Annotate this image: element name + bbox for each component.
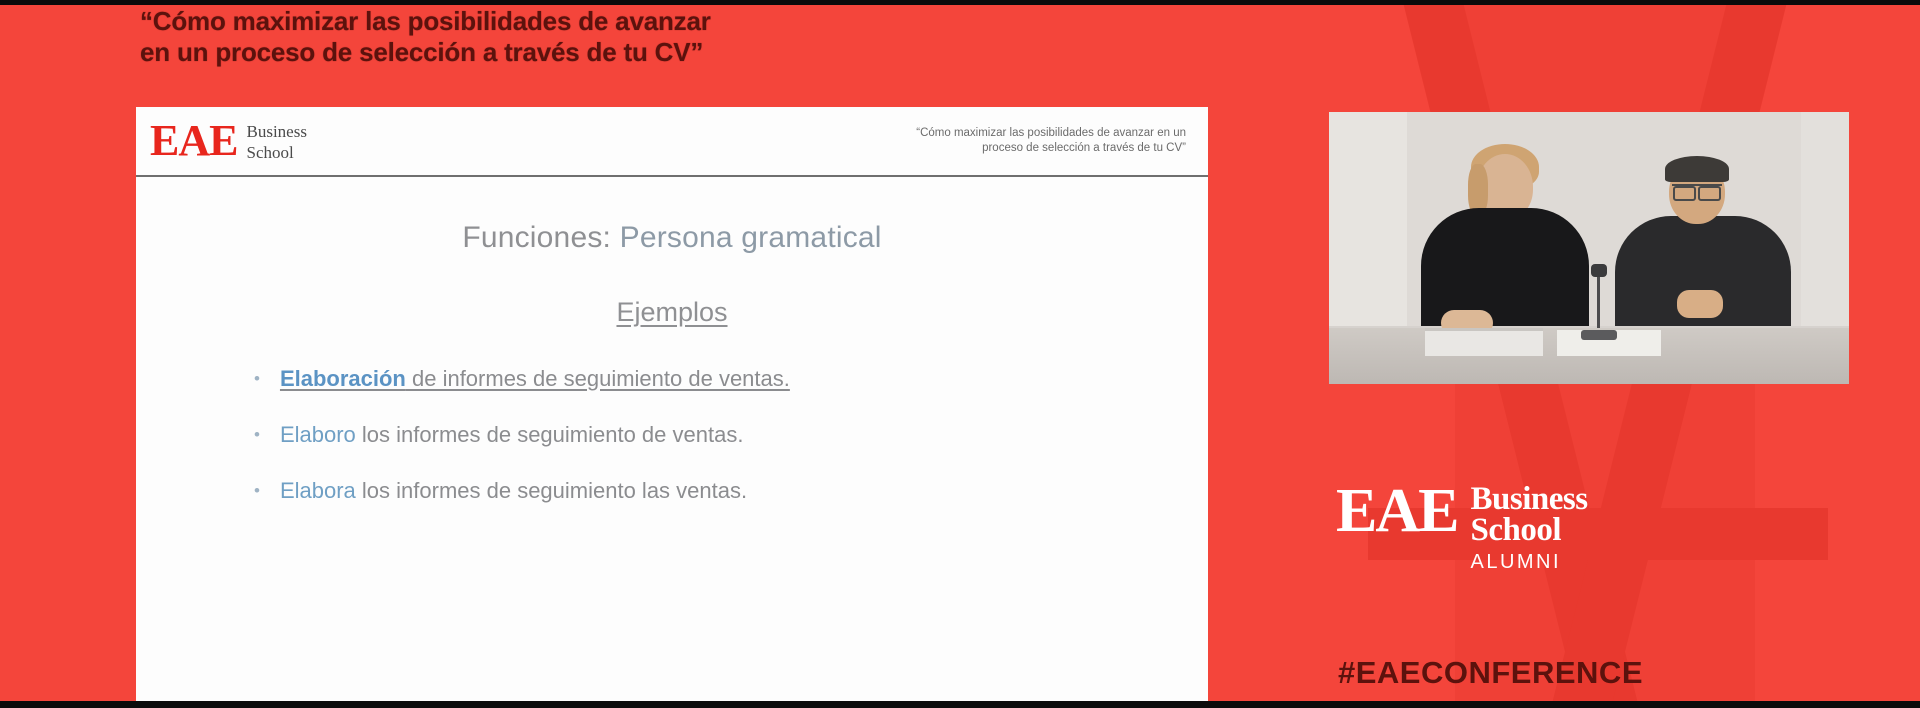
microphone-icon: [1591, 264, 1607, 277]
speaker-two-body: [1615, 216, 1791, 340]
list-item-keyword: Elabora: [280, 478, 356, 503]
eae-logo-line-1: Business: [246, 120, 306, 141]
slide-header-note-line-1: “Cómo maximizar las posibilidades de ava…: [916, 126, 1186, 141]
eae-alumni-words: Business School ALUMNI: [1470, 483, 1587, 574]
list-item-text: Elabora los informes de seguimiento las …: [280, 478, 747, 504]
video-laptop-left: [1425, 328, 1543, 356]
slide-subtitle: Ejemplos: [136, 297, 1208, 328]
eae-alumni-logo: EAE Business School ALUMNI: [1336, 483, 1588, 574]
list-item: • Elaboración de informes de seguimiento…: [254, 366, 1208, 392]
slide-header: EAE Business School “Cómo maximizar las …: [136, 107, 1208, 177]
list-item-keyword: Elaboración: [280, 366, 406, 391]
slide-header-note: “Cómo maximizar las posibilidades de ava…: [916, 126, 1186, 156]
list-item: • Elabora los informes de seguimiento la…: [254, 478, 1208, 504]
list-item-keyword: Elaboro: [280, 422, 356, 447]
conference-stream-frame: “Cómo maximizar las posibilidades de ava…: [0, 0, 1920, 708]
microphone-base: [1581, 330, 1617, 340]
eae-alumni-mark: EAE: [1336, 483, 1457, 539]
presentation-slide[interactable]: EAE Business School “Cómo maximizar las …: [136, 107, 1208, 701]
list-item-rest: los informes de seguimiento las ventas.: [356, 478, 747, 503]
conference-hashtag: #EAECONFERENCE: [1338, 655, 1643, 691]
slide-header-note-line-2: proceso de selección a través de tu CV”: [916, 141, 1186, 156]
letterbox-bar-top: [0, 0, 1920, 5]
list-item: • Elaboro los informes de seguimiento de…: [254, 422, 1208, 448]
list-item-text: Elaboración de informes de seguimiento d…: [280, 366, 790, 392]
microphone-stand: [1597, 272, 1600, 334]
eae-logo-line-2: School: [246, 141, 306, 162]
webcam-video-panel[interactable]: [1329, 112, 1849, 384]
headline-line-1: “Cómo maximizar las posibilidades de ava…: [140, 6, 711, 37]
headline-line-2: en un proceso de selección a través de t…: [140, 37, 711, 68]
speaker-two-hair: [1665, 156, 1729, 182]
speaker-two-hand: [1677, 290, 1723, 318]
eae-alumni-tagline: ALUMNI: [1470, 551, 1587, 574]
eae-logo: EAE Business School: [150, 120, 307, 162]
speaker-two-glasses: [1672, 184, 1722, 195]
eae-logo-words: Business School: [246, 120, 306, 162]
slide-title: Funciones: Persona gramatical: [136, 221, 1208, 255]
bullet-dot-icon: •: [254, 482, 260, 499]
bullet-dot-icon: •: [254, 370, 260, 387]
eae-alumni-line-1: Business: [1470, 484, 1587, 515]
eae-alumni-line-2: School: [1470, 515, 1587, 546]
slide-title-value: Persona gramatical: [620, 221, 882, 254]
bullet-dot-icon: •: [254, 426, 260, 443]
slide-body: Funciones: Persona gramatical Ejemplos •…: [136, 221, 1208, 701]
list-item-text: Elaboro los informes de seguimiento de v…: [280, 422, 744, 448]
list-item-rest: de informes de seguimiento de ventas.: [406, 366, 790, 391]
conference-headline: “Cómo maximizar las posibilidades de ava…: [140, 6, 711, 68]
letterbox-bar-bottom: [0, 701, 1920, 708]
slide-bullet-list: • Elaboración de informes de seguimiento…: [254, 366, 1208, 504]
slide-title-label: Funciones:: [462, 221, 619, 254]
eae-logo-mark: EAE: [150, 121, 237, 161]
list-item-rest: los informes de seguimiento de ventas.: [356, 422, 744, 447]
